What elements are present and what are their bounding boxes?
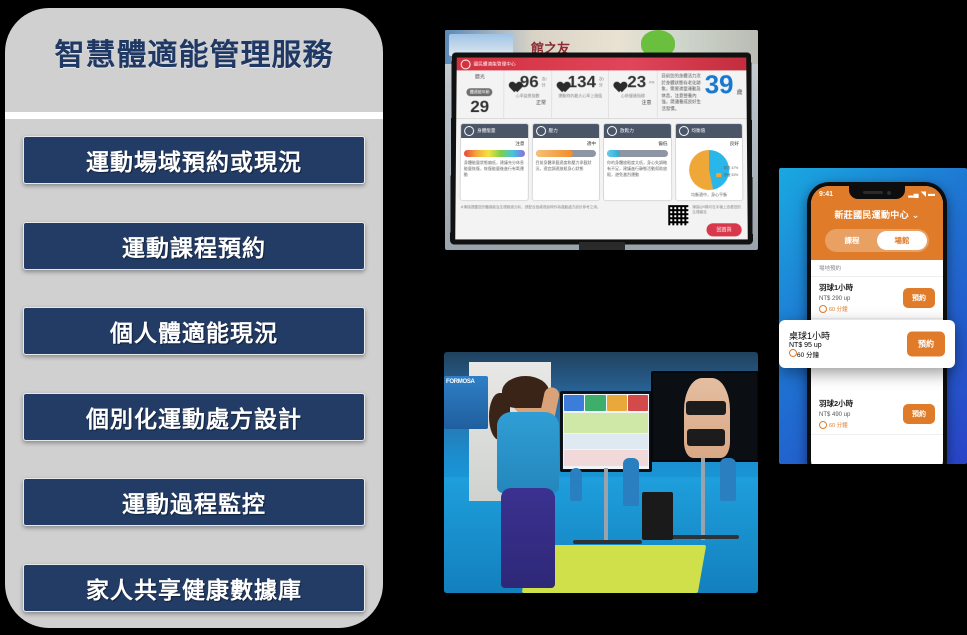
list-item[interactable]: 運動課程預約 xyxy=(23,222,365,270)
card-title: 均衡值 xyxy=(691,128,705,134)
list-item[interactable]: 運動場域預約或現況 xyxy=(23,136,365,184)
metric-status: 注意 xyxy=(611,99,654,106)
stand-base xyxy=(670,535,739,539)
clock-icon xyxy=(789,349,797,357)
metric-cardio: 23 ms 心肺健康指標 注意 xyxy=(609,70,657,118)
qr-caption: 掃描QR碼可在手機上查看您的生理報告 xyxy=(692,205,742,215)
card-balance: 均衡值 良好 緊張 47% 舒緩 53% 均衡適中，身心平衡 xyxy=(674,123,743,201)
card-body: 目前身體承載適度和壓力承載狀況，適宜調適放鬆身心狀態 xyxy=(535,160,591,171)
service-list: 運動場域預約或現況 運動課程預約 個人體適能現況 個別化運動處方設計 運動過程監… xyxy=(5,130,383,622)
list-item[interactable]: 羽球2小時 NT$ 490 up 60 分鐘 預約 xyxy=(811,393,943,435)
list-item-label: 家人共享健康數據庫 xyxy=(86,571,302,605)
metric-value: 96 xyxy=(520,73,539,90)
card-body: 均衡適中，身心平衡 xyxy=(679,192,740,198)
service-panel: 智慧體適能管理服務 運動場域預約或現況 運動課程預約 個人體適能現況 個別化運動… xyxy=(5,8,383,628)
metric-row: 體光 體適能年齡 29 96 次/分 心率變異指數 正常 134 xyxy=(456,70,747,119)
dashboard-header: 國民體適能管理中心 xyxy=(457,58,747,71)
battery-icon: ▬ xyxy=(928,191,935,198)
status-time: 9:41 xyxy=(819,191,833,198)
card-energy: 身體能量 注意 身體能量狀態偏低，建議充分休息能量恢復，恢復能量後進行有氧運動 xyxy=(460,123,529,201)
dashboard-header-title: 國民體適能管理中心 xyxy=(474,61,516,67)
legend-label: 舒緩 53% xyxy=(724,173,739,178)
card-title: 壓力 xyxy=(549,128,558,134)
section-label: 場地預約 xyxy=(811,260,943,277)
heart-icon xyxy=(506,76,517,88)
monitor-stand xyxy=(604,468,608,540)
card-level: 適中 xyxy=(536,141,597,148)
metric-value: 134 xyxy=(568,73,596,90)
clock-icon xyxy=(819,421,827,429)
clock-icon xyxy=(819,305,827,313)
metric-value: 23 xyxy=(627,73,646,90)
list-item[interactable]: 運動過程監控 xyxy=(23,478,365,526)
heart-icon xyxy=(554,76,565,88)
home-button[interactable]: 回首頁 xyxy=(706,223,741,236)
list-item-label: 運動過程監控 xyxy=(122,485,266,519)
kiosk-photo: 館之友 國民體適能管理中心 體光 體適能年齡 29 96 xyxy=(445,30,758,250)
card-stress: 壓力 適中 目前身體承載適度和壓力承載狀況，適宜調適放鬆身心狀態 xyxy=(531,123,600,201)
dashboard-footer: ※掃描提醒您的體適能及生理數據分析，請配合指導員說明作為運動處方設計參考之用。 … xyxy=(455,205,747,225)
legend-label: 緊張 47% xyxy=(724,166,739,171)
list-item-label: 運動場域預約或現況 xyxy=(86,143,302,177)
phone-mockup: 9:41 ▂▄ ◥ ▬ 新莊國民運動中心 ⌄ 課程 場館 xyxy=(779,168,967,464)
metric-caption: 運動時的最大心率上限值 xyxy=(554,93,606,99)
slide-canvas: 智慧體適能管理服務 運動場域預約或現況 運動課程預約 個人體適能現況 個別化運動… xyxy=(0,0,967,635)
list-item-label: 個人體適能現況 xyxy=(110,314,278,348)
relax-gauge xyxy=(607,150,668,157)
fitness-age-badge: 體適能年齡 xyxy=(467,88,493,96)
fitness-age-metric: 體光 體適能年齡 29 xyxy=(456,70,504,118)
speaker-box xyxy=(642,492,673,540)
stand-base xyxy=(573,540,642,544)
list-item-label: 運動課程預約 xyxy=(122,229,266,263)
heart-icon xyxy=(611,76,624,88)
pie-legend: 緊張 47% 舒緩 53% xyxy=(717,166,739,178)
energy-icon xyxy=(464,126,474,136)
summary-block: 目前您的身體活力次於身體狀態有老化跡象，需要適當運動及休息，注意營養內強，建議養… xyxy=(657,70,746,118)
signal-icon: ▂▄ xyxy=(908,190,918,198)
bystander xyxy=(623,458,639,506)
card-body: 你的身體放鬆度太低，身心失調略有不足，建議進行靜態活動幫助放鬆，避免激烈運動 xyxy=(607,160,667,177)
speaker-icon xyxy=(863,191,883,194)
booth-photo: FORMOSA xyxy=(444,352,758,593)
card-relax: 放鬆力 偏低 你的身體放鬆度太低，身心失調略有不足，建議進行靜態活動幫助放鬆，避… xyxy=(603,123,672,201)
metric-unit: ms xyxy=(649,79,654,84)
fitness-age-value: 29 xyxy=(458,98,501,115)
exercising-person xyxy=(482,376,576,588)
card-title: 放鬆力 xyxy=(620,128,634,134)
list-item[interactable]: 個人體適能現況 xyxy=(23,307,365,355)
trainer-video-monitor xyxy=(651,371,758,462)
card-level: 良好 xyxy=(678,141,739,148)
venue-name: 新莊國民運動中心 xyxy=(834,210,908,220)
bystander xyxy=(720,458,736,501)
item-duration: 60 分鐘 xyxy=(829,305,848,313)
tv-bezel: 國民體適能管理中心 體光 體適能年齡 29 96 次/分 心率變異指數 正常 xyxy=(450,53,753,245)
relax-icon xyxy=(607,126,617,136)
footer-note: ※掃描提醒您的體適能及生理數據分析，請配合指導員說明作為運動處方設計參考之用。 xyxy=(460,205,664,210)
book-button[interactable]: 預約 xyxy=(907,332,945,357)
balance-icon xyxy=(678,126,688,136)
book-button[interactable]: 預約 xyxy=(903,288,935,308)
list-item[interactable]: 個別化運動處方設計 xyxy=(23,393,365,441)
dashboard-screen: 國民體適能管理中心 體光 體適能年齡 29 96 次/分 心率變異指數 正常 xyxy=(455,58,748,240)
card-level: 偏低 xyxy=(607,141,668,148)
stress-gauge xyxy=(535,150,596,157)
venue-title[interactable]: 新莊國民運動中心 ⌄ xyxy=(819,208,935,221)
tab-bar: 課程 場館 xyxy=(825,229,929,252)
tab-venues[interactable]: 場館 xyxy=(877,231,927,250)
tv-stand xyxy=(579,242,625,250)
metric-hrv: 96 次/分 心率變異指數 正常 xyxy=(504,70,552,118)
page-title: 智慧體適能管理服務 xyxy=(5,30,383,74)
card-title: 身體能量 xyxy=(477,128,495,134)
camera-icon xyxy=(887,191,891,195)
body-age-unit: 歲 xyxy=(737,87,743,96)
title-divider xyxy=(5,112,383,119)
detail-cards: 身體能量 注意 身體能量狀態偏低，建議充分休息能量恢復，恢復能量後進行有氧運動 … xyxy=(456,119,748,205)
tab-courses[interactable]: 課程 xyxy=(827,231,877,250)
card-body: 身體能量狀態偏低，建議充分休息能量恢復，恢復能量後進行有氧運動 xyxy=(464,160,524,177)
fitness-age-label: 體光 xyxy=(459,73,502,80)
brand-logo-icon xyxy=(461,59,471,69)
phone-notch xyxy=(849,186,905,199)
monitor-stand xyxy=(701,458,705,540)
stress-icon xyxy=(536,126,546,136)
metric-unit: 次/分 xyxy=(542,76,549,88)
body-age-value: 39 xyxy=(705,73,734,115)
highlighted-booking-card[interactable]: 桌球1小時 NT$ 95 up 60 分鐘 預約 xyxy=(779,320,955,368)
list-item-label: 個別化運動處方設計 xyxy=(86,400,302,434)
chevron-down-icon: ⌄ xyxy=(912,210,920,220)
list-item[interactable]: 家人共享健康數據庫 xyxy=(23,564,365,612)
metric-status: 正常 xyxy=(506,99,549,106)
energy-gauge xyxy=(464,150,525,157)
item-duration: 60 分鐘 xyxy=(797,352,819,359)
summary-text: 目前您的身體活力次於身體狀態有老化跡象，需要適當運動及休息，注意營養內強，建議養… xyxy=(661,73,701,115)
wifi-icon: ◥ xyxy=(921,190,926,198)
metric-unit: 次/分 xyxy=(599,76,606,88)
list-item[interactable]: 羽球1小時 NT$ 290 up 60 分鐘 預約 xyxy=(811,277,943,319)
card-level: 注意 xyxy=(464,141,525,148)
metric-max-hr: 134 次/分 運動時的最大心率上限值 xyxy=(552,70,609,118)
book-button[interactable]: 預約 xyxy=(903,404,935,424)
item-duration: 60 分鐘 xyxy=(829,421,848,429)
qr-code-icon xyxy=(668,205,688,225)
